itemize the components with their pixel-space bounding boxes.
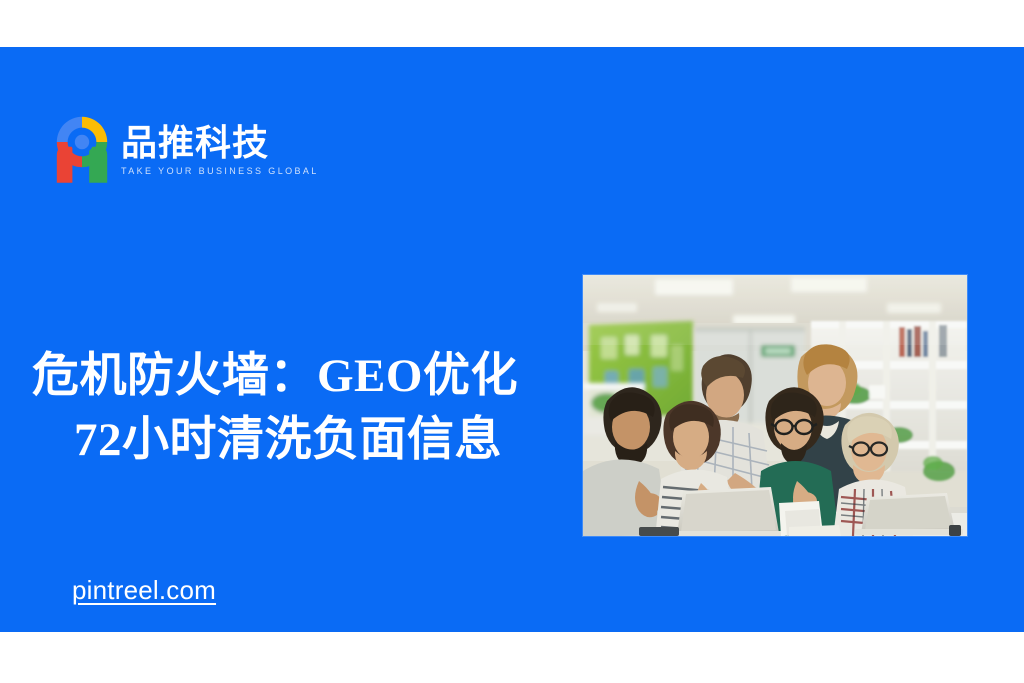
- page-title: 危机防火墙：GEO优化 72小时清洗负面信息: [28, 344, 548, 472]
- website-url-link[interactable]: pintreel.com: [72, 575, 216, 606]
- brand-tagline: TAKE YOUR BUSINESS GLOBAL: [121, 166, 319, 176]
- team-photo: [583, 275, 967, 536]
- brand-wordmark: 品推科技 TAKE YOUR BUSINESS GLOBAL: [121, 120, 319, 175]
- pintreel-p-mark-icon: [52, 112, 112, 184]
- brand-name-cn: 品推科技: [121, 124, 269, 161]
- page-title-line-1: 危机防火墙：GEO优化: [28, 344, 548, 408]
- slide-frame: 品推科技 TAKE YOUR BUSINESS GLOBAL 危机防火墙：GEO…: [0, 0, 1024, 683]
- slide-canvas: 品推科技 TAKE YOUR BUSINESS GLOBAL 危机防火墙：GEO…: [0, 47, 1024, 632]
- brand-logo[interactable]: 品推科技 TAKE YOUR BUSINESS GLOBAL: [52, 112, 319, 184]
- team-photo-image: [583, 275, 967, 536]
- page-title-line-2: 72小时清洗负面信息: [28, 408, 548, 472]
